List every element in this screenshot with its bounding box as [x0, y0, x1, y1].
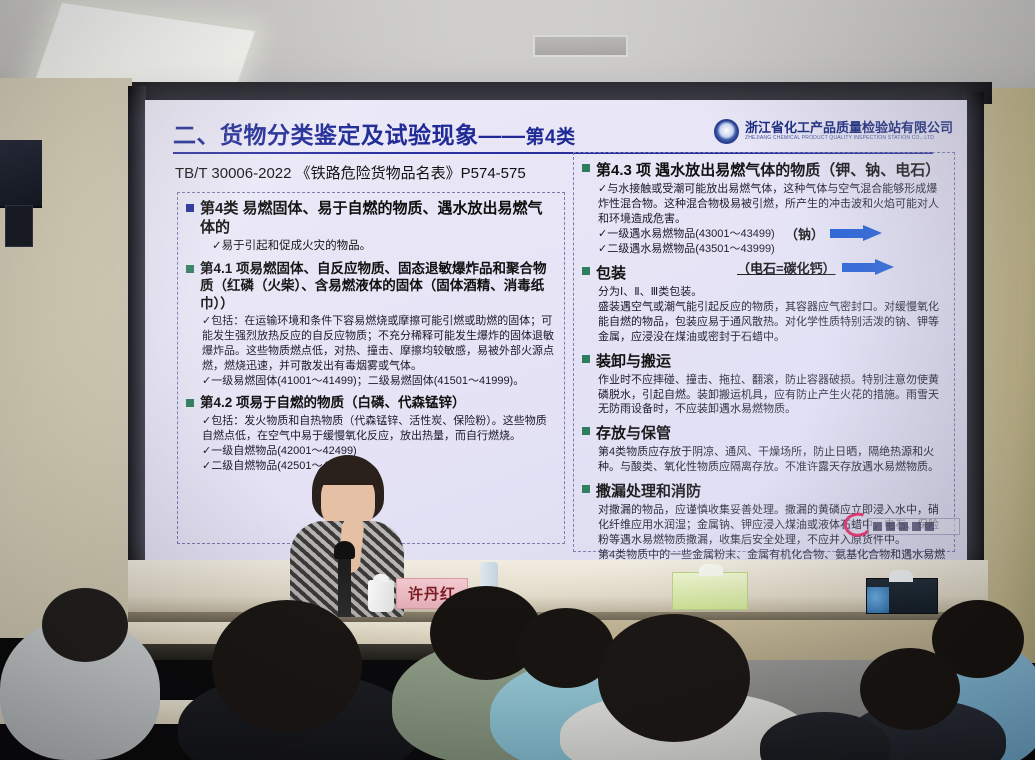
packaging-heading: 包装	[596, 262, 626, 283]
item43-check2-text: 一级遇水易燃物品(43001～43499)	[607, 228, 775, 240]
handling-heading: 装卸与搬运	[596, 350, 671, 371]
microphone-stand	[338, 551, 351, 617]
item42-check1: ✓包括：发火物质和自热物质（代森锰锌、活性炭、保险粉）。这些物质自燃点低，在空气…	[186, 414, 556, 444]
pen-icon[interactable]	[873, 522, 882, 531]
class4-check1-text: 易于引起和促成火灾的物品。	[222, 240, 372, 252]
tea-cup	[368, 580, 394, 612]
right-arrow-icon	[842, 259, 896, 276]
item42-heading-row: 第4.2 项易于自燃的物质（白磷、代森锰锌）	[186, 394, 556, 412]
screen-left-bezel	[128, 86, 146, 578]
audience-head	[212, 600, 362, 732]
slide-title-main: 二、货物分类鉴定及试验现象——	[173, 122, 526, 148]
storage-heading: 存放与保管	[596, 422, 671, 443]
packaging-line2: 盛装遇空气或潮气能引起反应的物质，其容器应气密封口。对缓慢氧化能自燃的物品，包装…	[582, 300, 946, 345]
slide-header: 二、货物分类鉴定及试验现象——第4类 浙江省化工产品质量检验站有限公司 ZHEJ…	[173, 112, 953, 154]
sodium-callout: （钠）	[785, 224, 884, 243]
bullet-square-icon	[582, 164, 590, 172]
right-arrow-icon	[830, 225, 884, 242]
item41-check2-text: 一级易燃固体(41001～41499)；二级易燃固体(41501～41999)。	[211, 375, 524, 387]
item43-check3: ✓二级遇水易燃物品(43501～43999)	[582, 242, 946, 257]
audience-head	[42, 588, 128, 662]
company-name-en: ZHEJIANG CHEMICAL PRODUCT QUALITY INSPEC…	[745, 135, 953, 141]
packaging-line1: 分为Ⅰ、Ⅱ、Ⅲ类包装。	[582, 285, 946, 300]
standard-reference: TB/T 30006-2022 《铁路危险货物品名表》P574-575	[175, 162, 526, 183]
handling-heading-row: 装卸与搬运	[582, 350, 946, 371]
carbide-callout-label: （电石=碳化钙）	[737, 258, 836, 277]
item43-heading-row: 第4.3 项 遇水放出易燃气体的物质（钾、钠、电石）	[582, 159, 946, 180]
item43-check3-text: 二级遇水易燃物品(43501～43999)	[607, 243, 775, 255]
carbide-callout: （电石=碳化钙）	[737, 258, 896, 277]
company-name-cn: 浙江省化工产品质量检验站有限公司	[745, 121, 953, 135]
ceiling-air-vent	[533, 35, 628, 57]
slide-title: 二、货物分类鉴定及试验现象——第4类	[173, 116, 576, 150]
bullet-square-icon	[582, 267, 590, 275]
bullet-square-icon	[582, 427, 590, 435]
more-options-icon[interactable]	[925, 522, 934, 531]
bullet-square-icon	[582, 485, 590, 493]
presentation-toolbar[interactable]	[868, 518, 960, 535]
projection-screen-slide: 二、货物分类鉴定及试验现象——第4类 浙江省化工产品质量检验站有限公司 ZHEJ…	[145, 100, 967, 562]
item43-heading: 第4.3 项 遇水放出易燃气体的物质（钾、钠、电石）	[596, 159, 940, 180]
item41-check1-text: 包括：在运输环境和条件下容易燃烧或摩擦可能引燃或助燃的固体；可能发生强烈放热反应…	[202, 315, 554, 372]
item41-check2: ✓一级易燃固体(41001～41499)；二级易燃固体(41501～41999)…	[186, 374, 556, 389]
audience-head	[860, 648, 960, 730]
item41-heading: 第4.1 项易燃固体、自反应物质、固态退敏爆炸品和聚合物质（红磷（火柴）、含易燃…	[200, 260, 556, 313]
company-emblem-icon	[714, 119, 739, 144]
storage-line1: 第4类物质应存放于阴凉、通风、干燥场所，防止日晒，隔绝热源和火种。与酸类、氧化性…	[582, 445, 946, 475]
item41-heading-row: 第4.1 项易燃固体、自反应物质、固态退敏爆炸品和聚合物质（红磷（火柴）、含易燃…	[186, 260, 556, 313]
item41-check1: ✓包括：在运输环境和条件下容易燃烧或摩擦可能引燃或助燃的固体；可能发生强烈放热反…	[186, 314, 556, 374]
tissue-box-dark	[866, 578, 938, 614]
bullet-square-icon	[582, 355, 590, 363]
bullet-square-icon	[186, 265, 194, 273]
right-wall	[982, 88, 1035, 663]
storage-heading-row: 存放与保管	[582, 422, 946, 443]
slide-navigator-icon[interactable]	[899, 522, 908, 531]
training-room-photo: 二、货物分类鉴定及试验现象——第4类 浙江省化工产品质量检验站有限公司 ZHEJ…	[0, 0, 1035, 760]
handling-line1: 作业时不应摔碰、撞击、拖拉、翻滚，防止容器破损。特别注意勿使黄磷脱水，引起自燃。…	[582, 373, 946, 418]
audience-head	[598, 614, 750, 742]
slide-title-suffix: 第4类	[526, 127, 576, 148]
spill-heading-row: 撒漏处理和消防	[582, 480, 946, 501]
slide-right-column: 第4.3 项 遇水放出易燃气体的物质（钾、钠、电石） ✓与水接触或受潮可能放出易…	[573, 152, 955, 552]
tissue-box-green	[672, 572, 748, 610]
speaker-mount-bracket	[5, 205, 33, 247]
item43-check1: ✓与水接触或受潮可能放出易燃气体，这种气体与空气混合能够形成爆炸性混合物。这种混…	[582, 182, 946, 227]
class4-check1: ✓易于引起和促成火灾的物品。	[186, 239, 556, 254]
item43-check1-text: 与水接触或受潮可能放出易燃气体，这种气体与空气混合能够形成爆炸性混合物。这种混合…	[598, 183, 939, 225]
item42-check1-text: 包括：发火物质和自热物质（代森锰锌、活性炭、保险粉）。这些物质自燃点低，在空气中…	[202, 415, 547, 442]
sodium-callout-label: （钠）	[785, 224, 824, 243]
company-logo: 浙江省化工产品质量检验站有限公司 ZHEJIANG CHEMICAL PRODU…	[714, 119, 953, 144]
wall-speaker	[0, 140, 42, 208]
class4-heading: 第4类 易燃固体、易于自燃的物质、遇水放出易燃气体的	[200, 199, 556, 237]
item42-heading: 第4.2 项易于自燃的物质（白磷、代森锰锌）	[200, 394, 466, 412]
microphone-icon	[334, 541, 355, 559]
zoom-icon[interactable]	[912, 522, 921, 531]
bullet-square-icon	[186, 204, 194, 212]
presenter-fringe	[316, 463, 380, 485]
pointer-icon[interactable]	[886, 522, 895, 531]
class4-heading-row: 第4类 易燃固体、易于自燃的物质、遇水放出易燃气体的	[186, 199, 556, 237]
bullet-square-icon	[186, 399, 194, 407]
item43-check2: ✓一级遇水易燃物品(43001～43499)	[582, 227, 946, 242]
spill-heading: 撒漏处理和消防	[596, 480, 701, 501]
